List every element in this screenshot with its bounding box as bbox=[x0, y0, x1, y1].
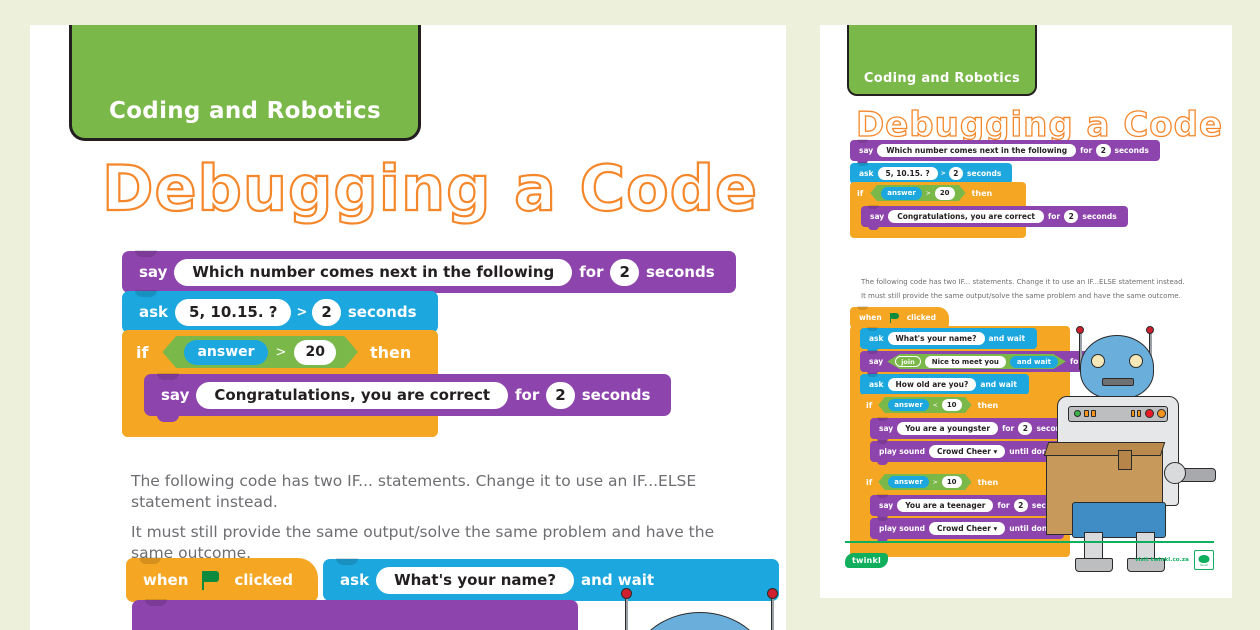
thumb-block-say-congrats[interactable]: say Congratulations, you are correct for… bbox=[861, 206, 1128, 227]
thumb-ask-operator: > bbox=[938, 170, 949, 177]
code-stack-top: say Which number comes next in the follo… bbox=[122, 251, 786, 437]
robot-antenna-tip-right bbox=[1146, 326, 1154, 334]
thumb-if1-say-seconds[interactable]: 2 bbox=[1018, 422, 1032, 435]
block-ask-label: ask bbox=[132, 303, 175, 321]
thumb-join-text[interactable]: Nice to meet you bbox=[925, 356, 1006, 368]
thumb-if2-condition[interactable]: answer > 10 bbox=[878, 474, 971, 490]
ask-seconds-label: seconds bbox=[341, 303, 424, 321]
thumb-say-label: say bbox=[855, 146, 877, 155]
robot-led-amber-1 bbox=[1084, 410, 1089, 417]
thumb-instruction-line-1: The following code has two IF... stateme… bbox=[861, 278, 1191, 288]
robot-illustration bbox=[1050, 330, 1225, 565]
thumb-if1-sound-label: play sound bbox=[875, 447, 929, 456]
thumb-when-label: when bbox=[855, 313, 886, 322]
thumb-if1-label: if bbox=[866, 401, 878, 410]
inner-say-text-input[interactable]: Congratulations, you are correct bbox=[196, 382, 508, 409]
thumb-say-for: for bbox=[1076, 146, 1096, 155]
thumb-if2-sound-dropdown[interactable]: Crowd Cheer ▾ bbox=[929, 522, 1005, 535]
thumb-ask1-and-wait: and wait bbox=[985, 334, 1030, 343]
thumb-clicked-label: clicked bbox=[903, 313, 940, 322]
thumb-if1-header: if answer < 10 then bbox=[860, 394, 1056, 416]
thumb-if1-say-text[interactable]: You are a youngster bbox=[897, 422, 998, 435]
thumb-subject-tab: Coding and Robotics bbox=[847, 25, 1037, 96]
thumb-if2-say-text[interactable]: You are a teenager bbox=[897, 499, 993, 512]
thumb-say-join-label: say bbox=[865, 357, 887, 366]
robot-eye-left bbox=[1091, 354, 1105, 368]
stamp-text: twinkl bbox=[1195, 564, 1213, 567]
block-ask-sequence[interactable]: ask 5, 10.15. ? > 2 seconds bbox=[122, 291, 438, 333]
thumb-if2-operator: > bbox=[933, 479, 938, 486]
worksheet-preview-main[interactable]: Coding and Robotics Debugging a Code say… bbox=[30, 25, 786, 630]
thumb-if1-say-label: say bbox=[875, 424, 897, 433]
ask-text-input[interactable]: 5, 10.15. ? bbox=[175, 299, 291, 326]
clicked-label: clicked bbox=[227, 571, 300, 589]
robot-led-orange bbox=[1157, 409, 1166, 418]
robot-led-green bbox=[1074, 410, 1081, 417]
thumb-if1-sound-dropdown[interactable]: Crowd Cheer ▾ bbox=[929, 445, 1005, 458]
condition-operator: > bbox=[276, 345, 287, 360]
thumb-inner-say-seconds-label: seconds bbox=[1078, 212, 1120, 221]
say-seconds-input[interactable]: 2 bbox=[610, 259, 639, 286]
subject-tab-label: Coding and Robotics bbox=[109, 98, 381, 124]
thumb-inner-say-text[interactable]: Congratulations, you are correct bbox=[888, 210, 1044, 223]
robot-antenna-left bbox=[625, 596, 628, 630]
robot-head bbox=[630, 612, 770, 630]
ask-seconds-input[interactable]: 2 bbox=[312, 299, 341, 326]
if-label: if bbox=[136, 343, 162, 362]
thumb-if-label: if bbox=[857, 189, 870, 198]
thumb-if1-then: then bbox=[972, 401, 999, 410]
thumb-block-ask-sequence[interactable]: ask 5, 10.15. ? > 2 seconds bbox=[850, 163, 1012, 184]
thumb-if-header: if answer > 20 then bbox=[850, 182, 1026, 204]
thumb-condition-operator: > bbox=[926, 190, 931, 197]
thumb-condition-value[interactable]: 20 bbox=[935, 187, 955, 200]
thumb-block-ask-name[interactable]: ask What's your name? and wait bbox=[860, 328, 1037, 349]
thumb-if2-operand[interactable]: answer bbox=[888, 476, 929, 488]
block-seconds-label: seconds bbox=[639, 263, 722, 281]
then-label: then bbox=[358, 343, 411, 362]
thumb-instruction-line-2: It must still provide the same output/so… bbox=[861, 292, 1191, 302]
robot-led-amber-4 bbox=[1137, 410, 1141, 417]
page-title: Debugging a Code bbox=[102, 157, 758, 221]
twinkl-url[interactable]: visit twinkl.co.za bbox=[1135, 557, 1189, 563]
block-if-then[interactable]: if answer > 20 then say Congratulations,… bbox=[122, 330, 438, 437]
thumb-if1-operator: < bbox=[933, 402, 938, 409]
green-flag-icon bbox=[200, 569, 222, 591]
block-say-partial[interactable] bbox=[132, 600, 578, 630]
thumb-join-label: join bbox=[895, 356, 921, 367]
thumb-say-seconds-label: seconds bbox=[1111, 146, 1153, 155]
block-say-question[interactable]: say Which number comes next in the follo… bbox=[122, 251, 736, 293]
if-body: say Congratulations, you are correct for… bbox=[122, 374, 438, 416]
inner-say-for-label: for bbox=[508, 386, 546, 404]
footer-right: visit twinkl.co.za twinkl bbox=[1135, 550, 1214, 570]
thumb-if1-operand[interactable]: answer bbox=[888, 399, 929, 411]
thumb-if2-say-label: say bbox=[875, 501, 897, 510]
thumb-ask-text[interactable]: 5, 10.15. ? bbox=[878, 167, 938, 180]
thumb-if-condition[interactable]: answer > 20 bbox=[870, 185, 965, 201]
if-condition[interactable]: answer > 20 bbox=[162, 336, 357, 368]
thumb-ask-seconds-label: seconds bbox=[963, 169, 1005, 178]
thumb-if-body: say Congratulations, you are correct for… bbox=[850, 204, 1026, 227]
inner-say-seconds-input[interactable]: 2 bbox=[546, 382, 575, 409]
thumb-block-play-sound-2[interactable]: play sound Crowd Cheer ▾ until done bbox=[870, 518, 1064, 539]
thumb-ask2-label: ask bbox=[865, 380, 888, 389]
block-for-label: for bbox=[572, 263, 610, 281]
thumb-code-stack-bottom: when clicked ask What's your name? and w… bbox=[850, 305, 1070, 557]
ask-operator: > bbox=[291, 305, 312, 320]
robot-hand-right bbox=[1164, 462, 1186, 484]
thumb-if2-body: say You are a teenager for 2 seconds pla… bbox=[860, 493, 1056, 539]
thumb-block-play-sound-1[interactable]: play sound Crowd Cheer ▾ until done bbox=[870, 441, 1064, 462]
leaf-icon bbox=[1199, 555, 1210, 563]
thumb-inner-say-label: say bbox=[866, 212, 888, 221]
ask-name-label: ask bbox=[333, 571, 376, 589]
thumb-if2-say-for: for bbox=[993, 501, 1013, 510]
thumb-block-when-flag-clicked[interactable]: when clicked bbox=[850, 307, 949, 328]
subject-tab: Coding and Robotics bbox=[69, 25, 421, 141]
thumb-code-stack-top: say Which number comes next in the follo… bbox=[850, 138, 1232, 238]
thumb-block-if-youngster[interactable]: if answer < 10 then say You are a youngs… bbox=[860, 394, 1056, 472]
thumb-if2-value[interactable]: 10 bbox=[942, 476, 962, 488]
inner-say-seconds-label: seconds bbox=[575, 386, 658, 404]
thumb-green-flag-icon bbox=[889, 312, 900, 323]
thumb-join-operator[interactable]: join Nice to meet you and wait bbox=[887, 354, 1066, 369]
twinkl-logo[interactable]: twinkl bbox=[845, 553, 888, 568]
robot-led-amber-3 bbox=[1131, 410, 1135, 417]
thumb-if2-say-seconds[interactable]: 2 bbox=[1014, 499, 1028, 512]
condition-operand[interactable]: answer bbox=[184, 340, 267, 365]
thumb-say-text[interactable]: Which number comes next in the following bbox=[877, 144, 1076, 157]
robot-antenna-tip-left bbox=[621, 588, 632, 599]
thumb-if1-value[interactable]: 10 bbox=[942, 399, 962, 411]
thumb-ask-label: ask bbox=[855, 169, 878, 178]
thumb-inner-say-seconds[interactable]: 2 bbox=[1064, 210, 1078, 223]
robot-led-red bbox=[1145, 409, 1154, 418]
robot-led-amber-2 bbox=[1091, 410, 1096, 417]
thumb-ask2-text[interactable]: How old are you? bbox=[888, 378, 977, 391]
worksheet-preview-thumbnail[interactable]: Coding and Robotics Debugging a Code say… bbox=[820, 25, 1232, 598]
thumb-if1-body: say You are a youngster for 2 seconds pl… bbox=[860, 416, 1056, 462]
say-text-input[interactable]: Which number comes next in the following bbox=[174, 259, 572, 286]
robot-illustration-partial bbox=[520, 570, 750, 630]
thumb-ask1-label: ask bbox=[865, 334, 888, 343]
block-say-label: say bbox=[132, 263, 174, 281]
robot-eye-right bbox=[1129, 354, 1143, 368]
robot-antenna-tip-right bbox=[767, 588, 778, 599]
thumb-subject-tab-label: Coding and Robotics bbox=[864, 71, 1020, 86]
thumb-inner-say-for: for bbox=[1044, 212, 1064, 221]
condition-value[interactable]: 20 bbox=[294, 340, 335, 365]
cardboard-box-lid bbox=[1044, 442, 1166, 456]
block-say-congrats[interactable]: say Congratulations, you are correct for… bbox=[144, 374, 671, 416]
if-header: if answer > 20 then bbox=[122, 330, 438, 374]
inner-say-label: say bbox=[154, 386, 196, 404]
robot-antenna-right bbox=[771, 596, 774, 630]
thumb-block-say-question[interactable]: say Which number comes next in the follo… bbox=[850, 140, 1160, 161]
thumb-block-ask-age[interactable]: ask How old are you? and wait bbox=[860, 374, 1029, 395]
thumb-block-if-then[interactable]: if answer > 20 then say Congratulations,… bbox=[850, 182, 1026, 238]
page-footer: twinkl visit twinkl.co.za twinkl bbox=[845, 541, 1214, 570]
thumb-if1-condition[interactable]: answer < 10 bbox=[878, 397, 971, 413]
thumb-ask2-and-wait: and wait bbox=[976, 380, 1021, 389]
thumb-if2-label: if bbox=[866, 478, 878, 487]
robot-head bbox=[1080, 335, 1154, 399]
robot-mouth bbox=[1102, 378, 1134, 386]
block-when-flag-clicked[interactable]: when clicked bbox=[126, 558, 318, 602]
thumb-block-if-teenager[interactable]: if answer > 10 then say You are a teenag… bbox=[860, 471, 1056, 549]
thumb-if2-header: if answer > 10 then bbox=[860, 471, 1056, 493]
thumb-condition-operand[interactable]: answer bbox=[881, 187, 922, 200]
thumb-say-seconds[interactable]: 2 bbox=[1096, 144, 1110, 157]
thumb-if2-then: then bbox=[972, 478, 999, 487]
when-label: when bbox=[136, 571, 195, 589]
thumb-ask-seconds[interactable]: 2 bbox=[949, 167, 963, 180]
thumb-if2-sound-label: play sound bbox=[875, 524, 929, 533]
thumb-then-label: then bbox=[966, 189, 993, 198]
thumb-ask1-text[interactable]: What's your name? bbox=[888, 332, 985, 345]
instruction-line-1: The following code has two IF... stateme… bbox=[131, 471, 751, 513]
thumb-instructions: The following code has two IF... stateme… bbox=[861, 278, 1191, 305]
cardboard-box-tab bbox=[1118, 450, 1132, 470]
twinkl-stamp-icon: twinkl bbox=[1194, 550, 1214, 570]
robot-antenna-tip-left bbox=[1076, 326, 1084, 334]
thumb-program-body: ask What's your name? and wait say join … bbox=[850, 326, 1070, 557]
thumb-if1-say-for: for bbox=[998, 424, 1018, 433]
